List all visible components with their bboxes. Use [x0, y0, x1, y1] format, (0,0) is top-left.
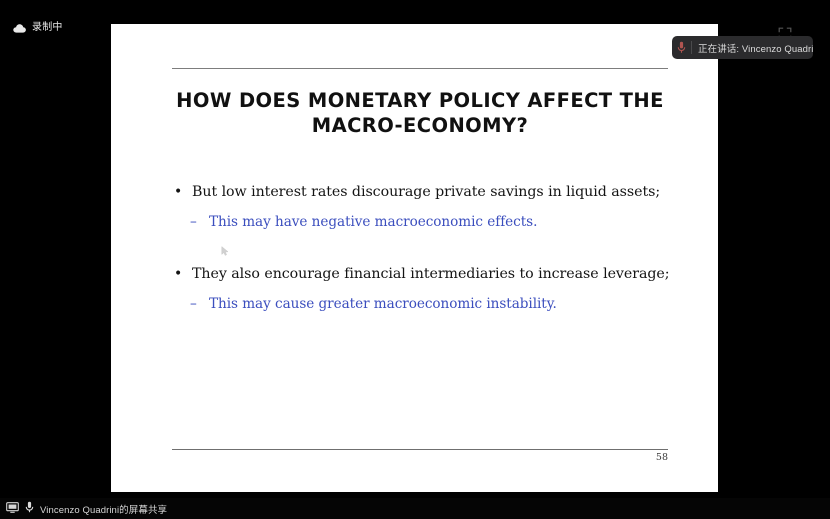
bullet-item: • But low interest rates discourage priv… — [111, 182, 718, 202]
sub-bullet-marker: – — [190, 295, 197, 314]
active-speaker-badge[interactable]: 正在讲话: Vincenzo Quadrini; — [672, 36, 813, 59]
page-title: HOW DOES MONETARY POLICY AFFECT THE MACR… — [172, 88, 668, 138]
active-speaker-label: 正在讲话: Vincenzo Quadrini; — [698, 41, 813, 55]
cursor-icon — [221, 246, 230, 256]
screen-share-label: Vincenzo Quadrini的屏幕共享 — [40, 502, 167, 516]
footer-divider — [172, 449, 668, 450]
badge-divider — [691, 41, 692, 54]
shared-screen-content: HOW DOES MONETARY POLICY AFFECT THE MACR… — [111, 24, 718, 492]
title-divider — [172, 68, 668, 69]
cloud-icon — [13, 24, 26, 33]
bullet-text: But low interest rates discourage privat… — [192, 184, 660, 200]
bullet-marker: • — [174, 264, 182, 284]
recording-indicator[interactable]: 录制中 — [13, 23, 63, 33]
bullet-item: • They also encourage financial intermed… — [111, 264, 718, 284]
recording-label: 录制中 — [32, 23, 63, 33]
bullet-block: • They also encourage financial intermed… — [111, 264, 718, 314]
microphone-icon — [25, 501, 34, 516]
bullet-block: • But low interest rates discourage priv… — [111, 182, 718, 232]
sub-bullet-text: This may have negative macroeconomic eff… — [209, 214, 537, 230]
sub-bullet-text: This may cause greater macroeconomic ins… — [209, 296, 557, 312]
sub-bullet-item: – This may have negative macroeconomic e… — [111, 213, 718, 232]
slide-page-number: 58 — [172, 452, 668, 463]
slide: HOW DOES MONETARY POLICY AFFECT THE MACR… — [111, 24, 718, 492]
monitor-icon — [6, 502, 19, 516]
microphone-icon — [677, 41, 686, 54]
bullet-marker: • — [174, 182, 182, 202]
zoom-meeting-window: 录制中 HOW DOES MONETARY POLICY AFFECT THE … — [0, 0, 830, 519]
sub-bullet-item: – This may cause greater macroeconomic i… — [111, 295, 718, 314]
screen-share-status-bar: Vincenzo Quadrini的屏幕共享 — [0, 498, 830, 519]
bullet-text: They also encourage financial intermedia… — [192, 266, 669, 282]
slide-body: • But low interest rates discourage priv… — [111, 182, 718, 314]
sub-bullet-marker: – — [190, 213, 197, 232]
